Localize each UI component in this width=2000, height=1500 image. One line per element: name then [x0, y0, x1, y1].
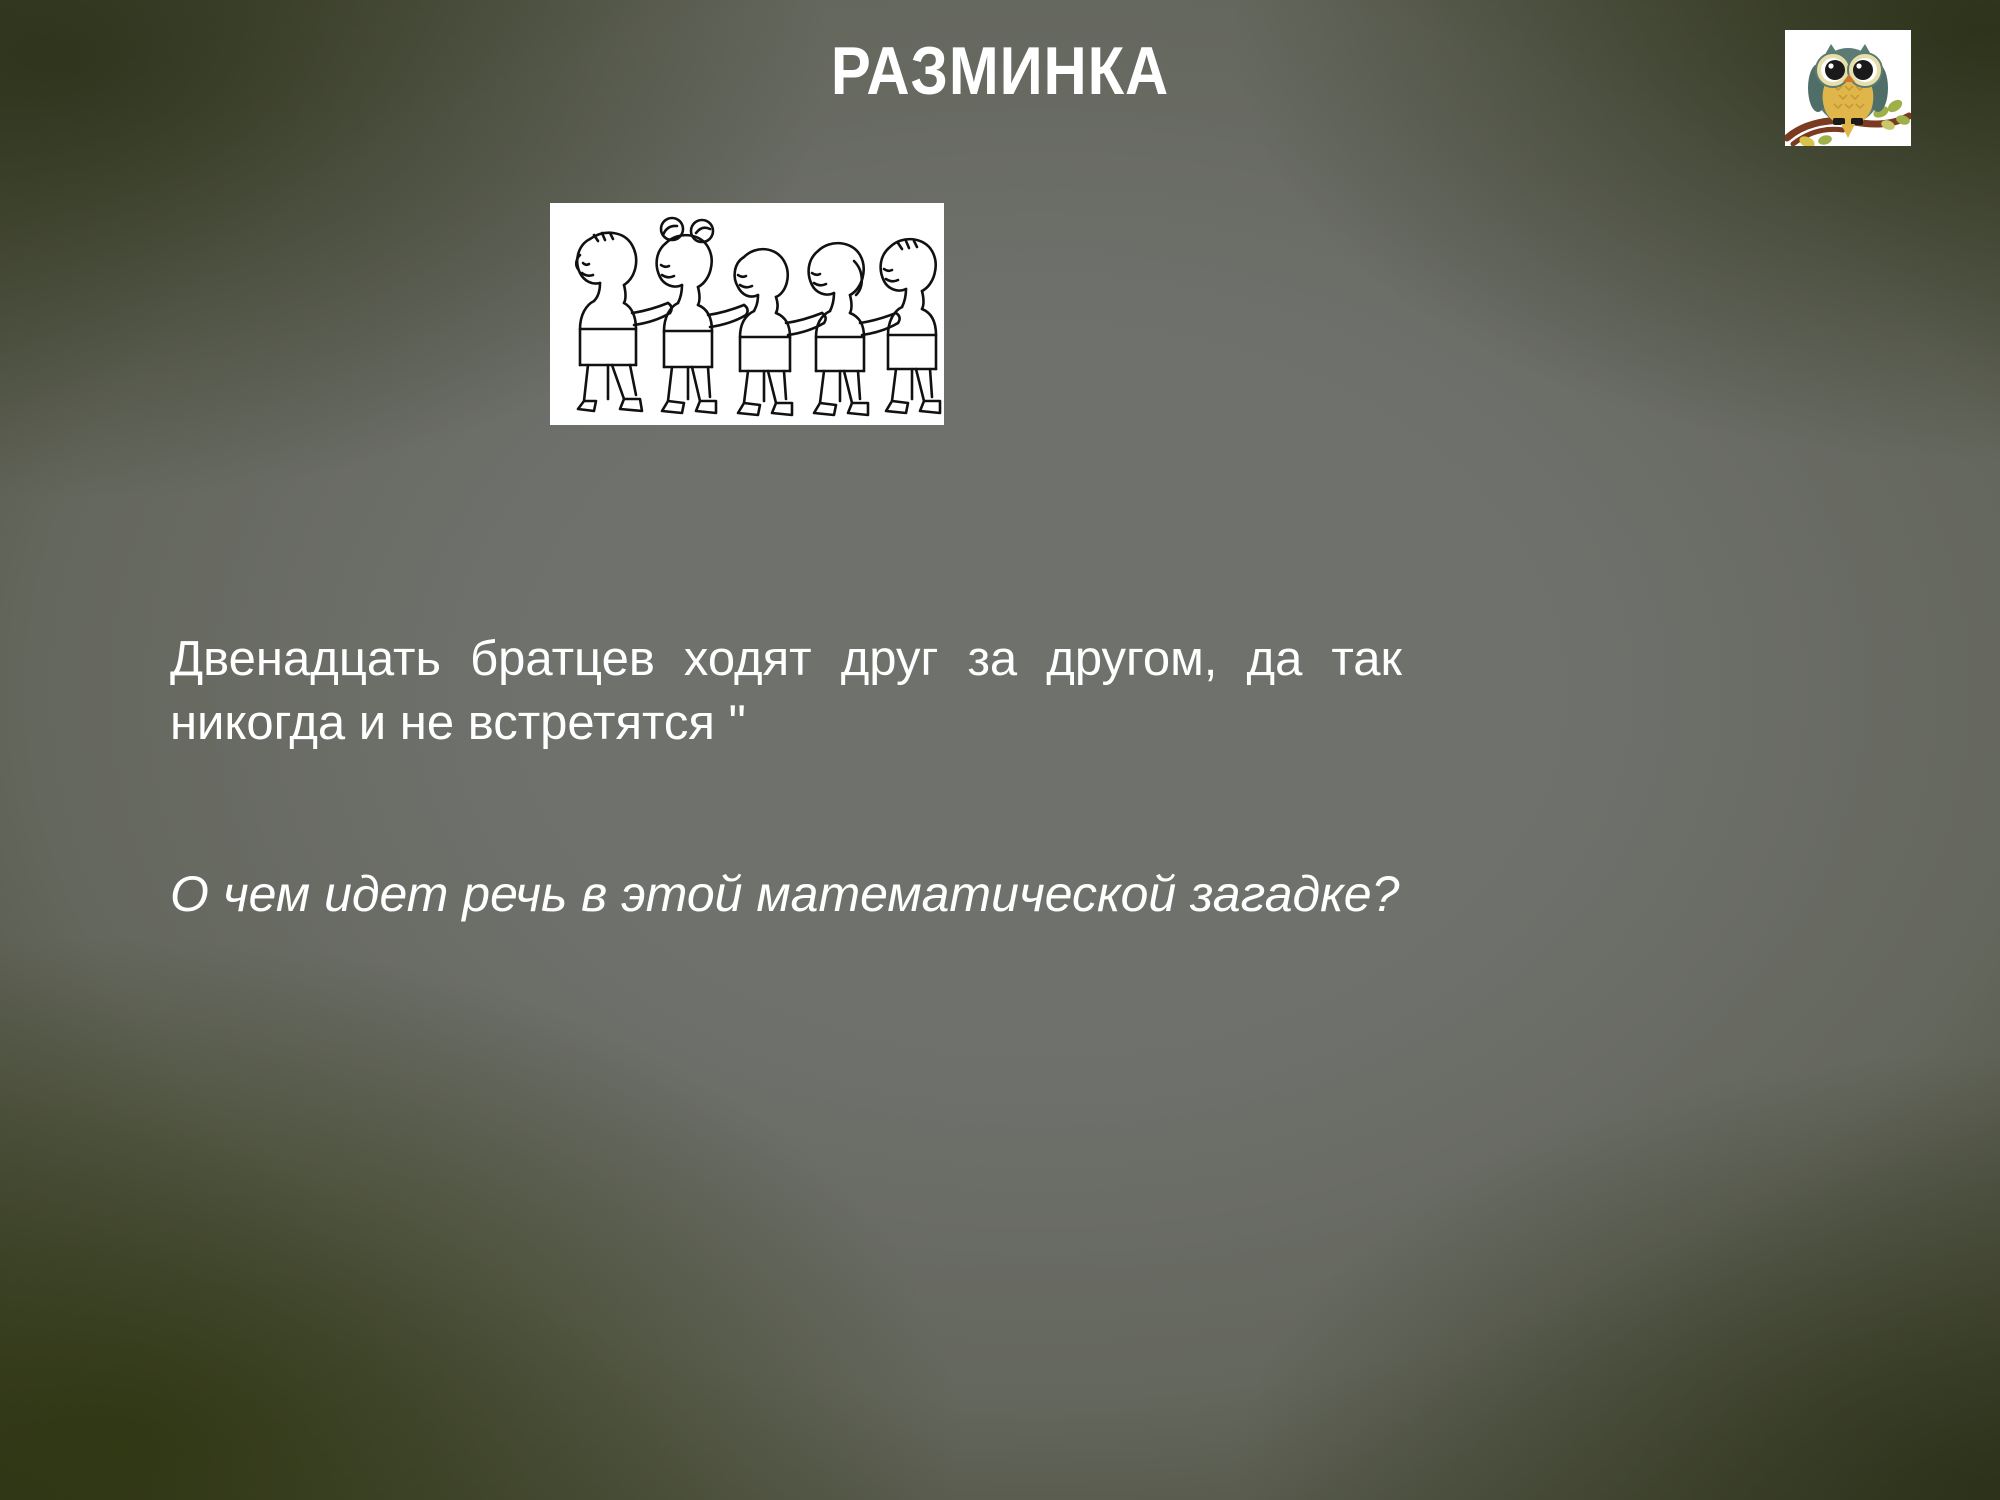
page-title: РАЗМИНКА	[120, 32, 1880, 110]
slide-canvas: РАЗМИНКА	[0, 0, 2000, 1500]
question-paragraph: О чем идет речь в этой математической за…	[170, 865, 1420, 923]
riddle-paragraph: Двенадцать братцев ходят друг за другом,…	[170, 628, 1402, 755]
children-walking-illustration	[550, 203, 944, 425]
children-line-drawing-icon	[550, 203, 944, 425]
owl-icon	[1785, 30, 1911, 146]
owl-on-branch-logo	[1785, 30, 1911, 146]
